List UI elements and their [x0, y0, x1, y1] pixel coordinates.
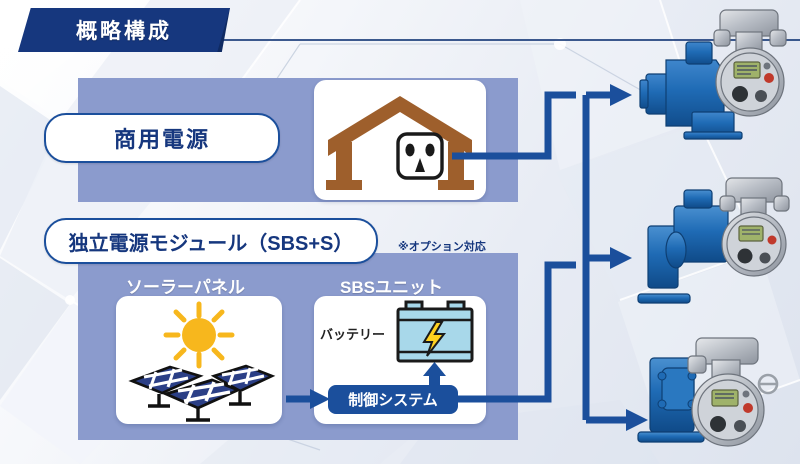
pump-actuator-unit-1 — [628, 2, 796, 152]
option-note: ※オプション対応 — [398, 238, 486, 254]
wire-commercial-to-bus — [452, 95, 576, 156]
solar-panel-caption: ソーラーパネル — [126, 273, 245, 298]
arrowhead-solar-to-control — [310, 389, 330, 409]
commercial-power-label: 商用電源 — [114, 122, 210, 154]
diagram-canvas: 概略構成 — [0, 0, 800, 464]
sbs-unit-caption: SBSユニット — [340, 273, 443, 298]
pump-actuator-unit-2 — [628, 176, 796, 316]
independent-module-label: 独立電源モジュール（SBS+S） — [69, 227, 354, 256]
pump-actuator-unit-3 — [628, 334, 796, 462]
independent-module-label-pill: 独立電源モジュール（SBS+S） — [44, 218, 378, 264]
wire-control-to-bus — [458, 265, 576, 399]
commercial-power-label-pill: 商用電源 — [44, 113, 280, 163]
